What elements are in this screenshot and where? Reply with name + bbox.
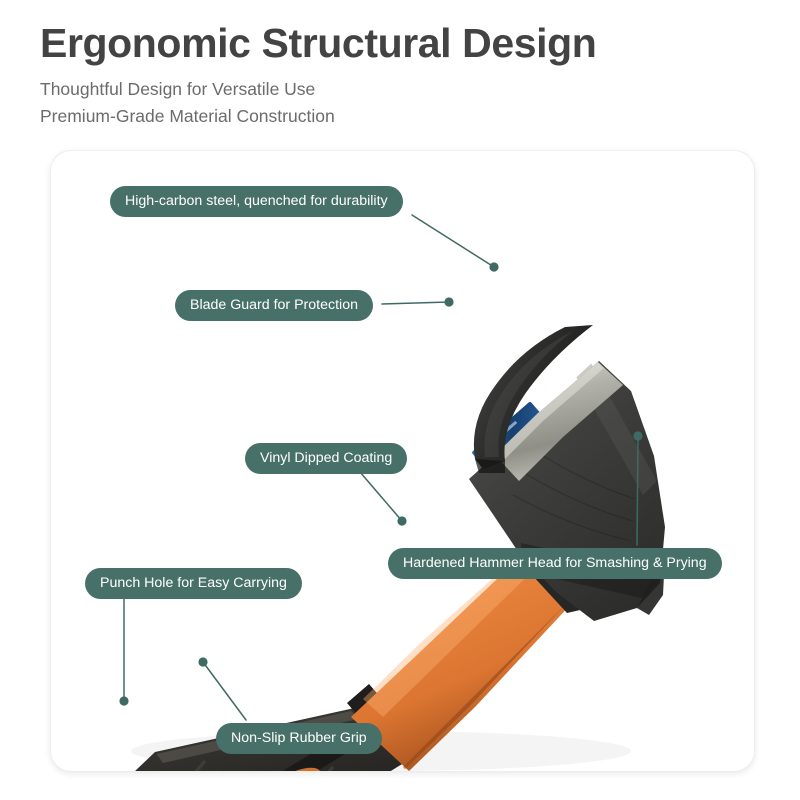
callout-hammer-head[interactable]: Hardened Hammer Head for Smashing & Pryi…	[388, 548, 722, 579]
grip-orange-oval	[244, 759, 328, 772]
subtitle-block: Thoughtful Design for Versatile Use Prem…	[40, 76, 760, 129]
subtitle-line-1: Thoughtful Design for Versatile Use	[40, 76, 760, 103]
header: Ergonomic Structural Design Thoughtful D…	[40, 22, 760, 129]
callout-blade-guard[interactable]: Blade Guard for Protection	[175, 290, 373, 321]
callout-vinyl-coating[interactable]: Vinyl Dipped Coating	[245, 443, 407, 474]
polished-bevel	[495, 362, 623, 481]
callout-punch-hole[interactable]: Punch Hole for Easy Carrying	[85, 568, 302, 599]
page-title: Ergonomic Structural Design	[40, 22, 760, 65]
blade-guard-part	[474, 325, 593, 473]
subtitle-line-2: Premium-Grade Material Construction	[40, 103, 760, 130]
axe-head-part	[469, 361, 665, 621]
callout-high-carbon-steel[interactable]: High-carbon steel, quenched for durabili…	[110, 186, 403, 217]
callout-rubber-grip[interactable]: Non-Slip Rubber Grip	[216, 723, 382, 754]
product-label-sticker	[471, 401, 582, 513]
